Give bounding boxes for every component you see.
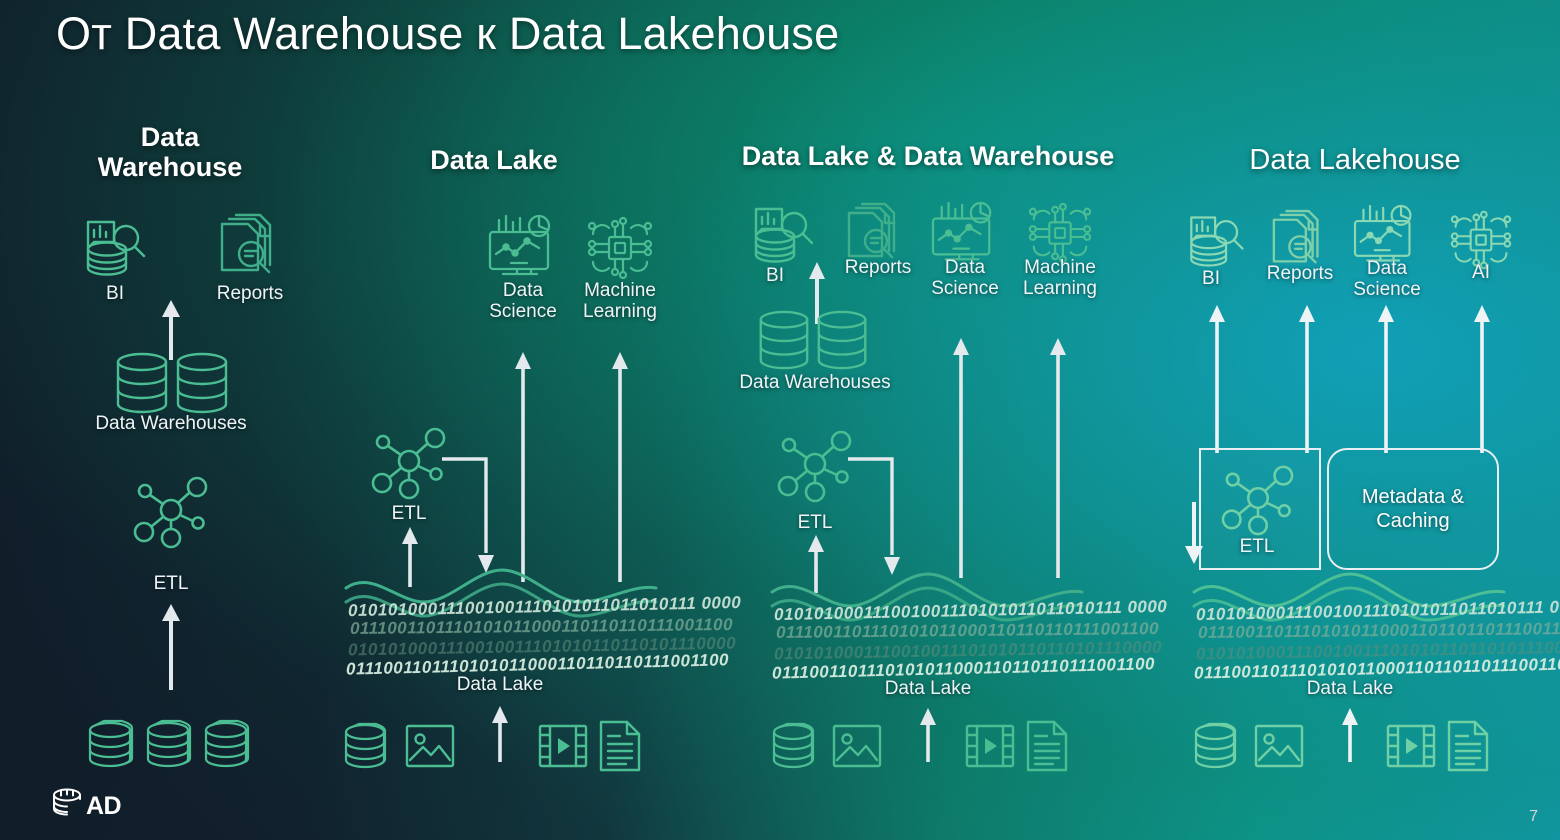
arrow-lake-to-data-science xyxy=(950,338,972,583)
reports-icon xyxy=(218,216,284,284)
source-video-icon xyxy=(538,724,588,770)
data-warehouses-icon xyxy=(758,310,868,370)
source-image-icon xyxy=(405,724,455,770)
data-lake-label: Data Lake xyxy=(430,674,570,695)
etl-icon xyxy=(372,425,446,499)
column-title-data-lake-and-warehouse: Data Lake & Data Warehouse xyxy=(700,141,1156,171)
column-title-data-lake: Data Lake xyxy=(394,145,594,175)
reports-label: Reports xyxy=(832,257,924,278)
data-science-label: Data Science xyxy=(915,257,1015,300)
source-image-icon xyxy=(832,724,882,770)
column-title-line: Warehouse xyxy=(70,152,270,182)
etl-label: ETL xyxy=(130,573,212,594)
etl-label: ETL xyxy=(368,503,450,524)
bi-label: BI xyxy=(80,283,150,304)
machine-learning-label: Machine Learning xyxy=(1005,257,1115,300)
source-document-icon xyxy=(1025,720,1069,772)
source-database-icon xyxy=(204,719,256,775)
source-database-icon xyxy=(146,719,198,775)
source-video-icon xyxy=(965,724,1015,770)
source-document-icon xyxy=(1446,720,1490,772)
source-database-icon xyxy=(88,719,140,775)
metadata-caching-box: Metadata & Caching xyxy=(1327,448,1499,570)
source-database-icon xyxy=(344,722,392,774)
data-warehouses-label: Data Warehouses xyxy=(70,413,272,434)
arrow-lakehouse-to-bi xyxy=(1206,305,1228,458)
arrow-etl-to-lake xyxy=(846,455,916,580)
data-warehouses-icon xyxy=(116,352,228,414)
data-warehouses-label: Data Warehouses xyxy=(715,372,915,393)
etl-icon xyxy=(778,428,852,502)
bi-icon xyxy=(1184,212,1248,276)
logo-text: AD xyxy=(86,794,121,819)
column-title-data-warehouse: Data Warehouse xyxy=(70,122,270,182)
data-science-label: Data Science xyxy=(470,280,576,323)
metadata-caching-label: Metadata & Caching xyxy=(1329,485,1497,534)
data-science-label: Data Science xyxy=(1337,258,1437,301)
data-science-icon xyxy=(487,216,559,282)
slide-canvas: От Data Warehouse к Data Lakehouse Data … xyxy=(0,0,1560,840)
source-image-icon xyxy=(1254,724,1304,770)
data-lake-label: Data Lake xyxy=(858,678,998,699)
arrow-sources-to-etl xyxy=(158,604,184,695)
etl-label: ETL xyxy=(775,512,855,533)
bi-label: BI xyxy=(1182,268,1240,289)
bi-icon xyxy=(80,216,150,286)
arrow-sources-to-lake xyxy=(917,708,939,767)
arrow-etl-to-lake xyxy=(440,455,510,578)
bi-label: BI xyxy=(745,265,805,286)
source-document-icon xyxy=(598,720,642,772)
source-database-icon xyxy=(1194,722,1242,774)
arrow-lake-to-data-science xyxy=(512,352,534,587)
arrow-etl-down-to-lake xyxy=(1182,502,1206,569)
brand-logo: AD xyxy=(50,787,121,826)
arrow-sources-to-lake xyxy=(1339,708,1361,767)
page-title: От Data Warehouse к Data Lakehouse xyxy=(56,8,839,60)
arrow-lake-to-machine-learning xyxy=(609,352,631,587)
etl-icon xyxy=(1222,463,1294,535)
etl-label: ETL xyxy=(1217,536,1297,557)
database-logo-icon xyxy=(50,787,84,826)
etl-icon xyxy=(134,474,208,548)
arrow-lakehouse-to-ai xyxy=(1471,305,1493,458)
arrow-lakehouse-to-data-science xyxy=(1375,305,1397,458)
arrow-lake-to-machine-learning xyxy=(1047,338,1069,583)
source-video-icon xyxy=(1386,724,1436,770)
column-title-data-lakehouse: Data Lakehouse xyxy=(1190,144,1520,176)
machine-learning-icon xyxy=(585,214,655,282)
arrow-sources-to-lake xyxy=(489,706,511,767)
reports-label: Reports xyxy=(1254,263,1346,284)
source-database-icon xyxy=(772,722,820,774)
data-lake-label: Data Lake xyxy=(1280,678,1420,699)
arrow-lakehouse-to-reports xyxy=(1296,305,1318,458)
machine-learning-label: Machine Learning xyxy=(565,280,675,323)
ai-label: AI xyxy=(1452,262,1510,283)
column-title-line: Data xyxy=(70,122,270,152)
reports-label: Reports xyxy=(200,283,300,304)
page-number: 7 xyxy=(1529,808,1538,826)
